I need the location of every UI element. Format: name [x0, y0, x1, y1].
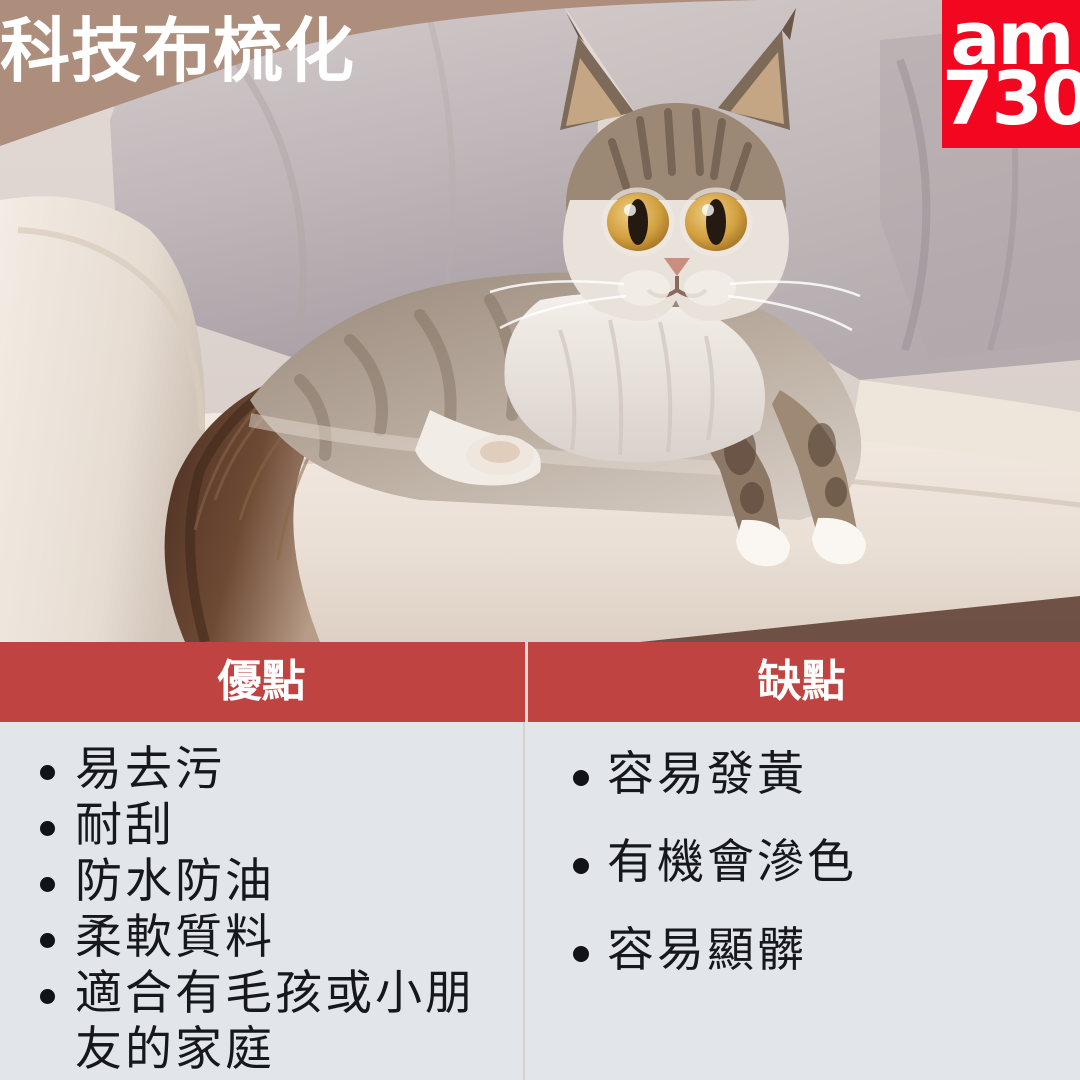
list-item: 適合有毛孩或小朋友的家庭: [0, 966, 523, 1078]
logo-text-730: 730: [942, 62, 1080, 136]
cons-column: 容易發黃 有機會滲色 容易顯髒: [525, 722, 1080, 1080]
pros-list: 易去污 耐刮 防水防油 柔軟質料 適合有毛孩或小朋友的家庭: [0, 742, 523, 1078]
list-item: 耐刮: [0, 798, 523, 854]
am730-logo[interactable]: am 730: [942, 0, 1080, 148]
pros-column: 易去污 耐刮 防水防油 柔軟質料 適合有毛孩或小朋友的家庭: [0, 722, 523, 1080]
cat-sofa-illustration: [0, 0, 1080, 642]
header-column-divider: [525, 642, 528, 722]
comparison-table-header: 優點 缺點: [0, 642, 1080, 722]
list-item: 易去污: [0, 742, 523, 798]
comparison-table-body: 易去污 耐刮 防水防油 柔軟質料 適合有毛孩或小朋友的家庭 容易發黃 有機會滲色…: [0, 722, 1080, 1080]
hero-photo: [0, 0, 1080, 642]
list-item: 有機會滲色: [525, 835, 1080, 891]
list-item: 柔軟質料: [0, 910, 523, 966]
column-header-cons: 缺點: [523, 642, 1080, 722]
list-item: 防水防油: [0, 854, 523, 910]
body-column-divider: [523, 722, 525, 1080]
cons-list: 容易發黃 有機會滲色 容易顯髒: [525, 747, 1080, 979]
infographic-card: 科技布梳化 am 730 優點 缺點 易去污 耐刮 防水防油 柔軟質料 適合有毛…: [0, 0, 1080, 1080]
column-header-pros: 優點: [0, 642, 523, 722]
list-item: 容易發黃: [525, 747, 1080, 803]
list-item: 容易顯髒: [525, 923, 1080, 979]
